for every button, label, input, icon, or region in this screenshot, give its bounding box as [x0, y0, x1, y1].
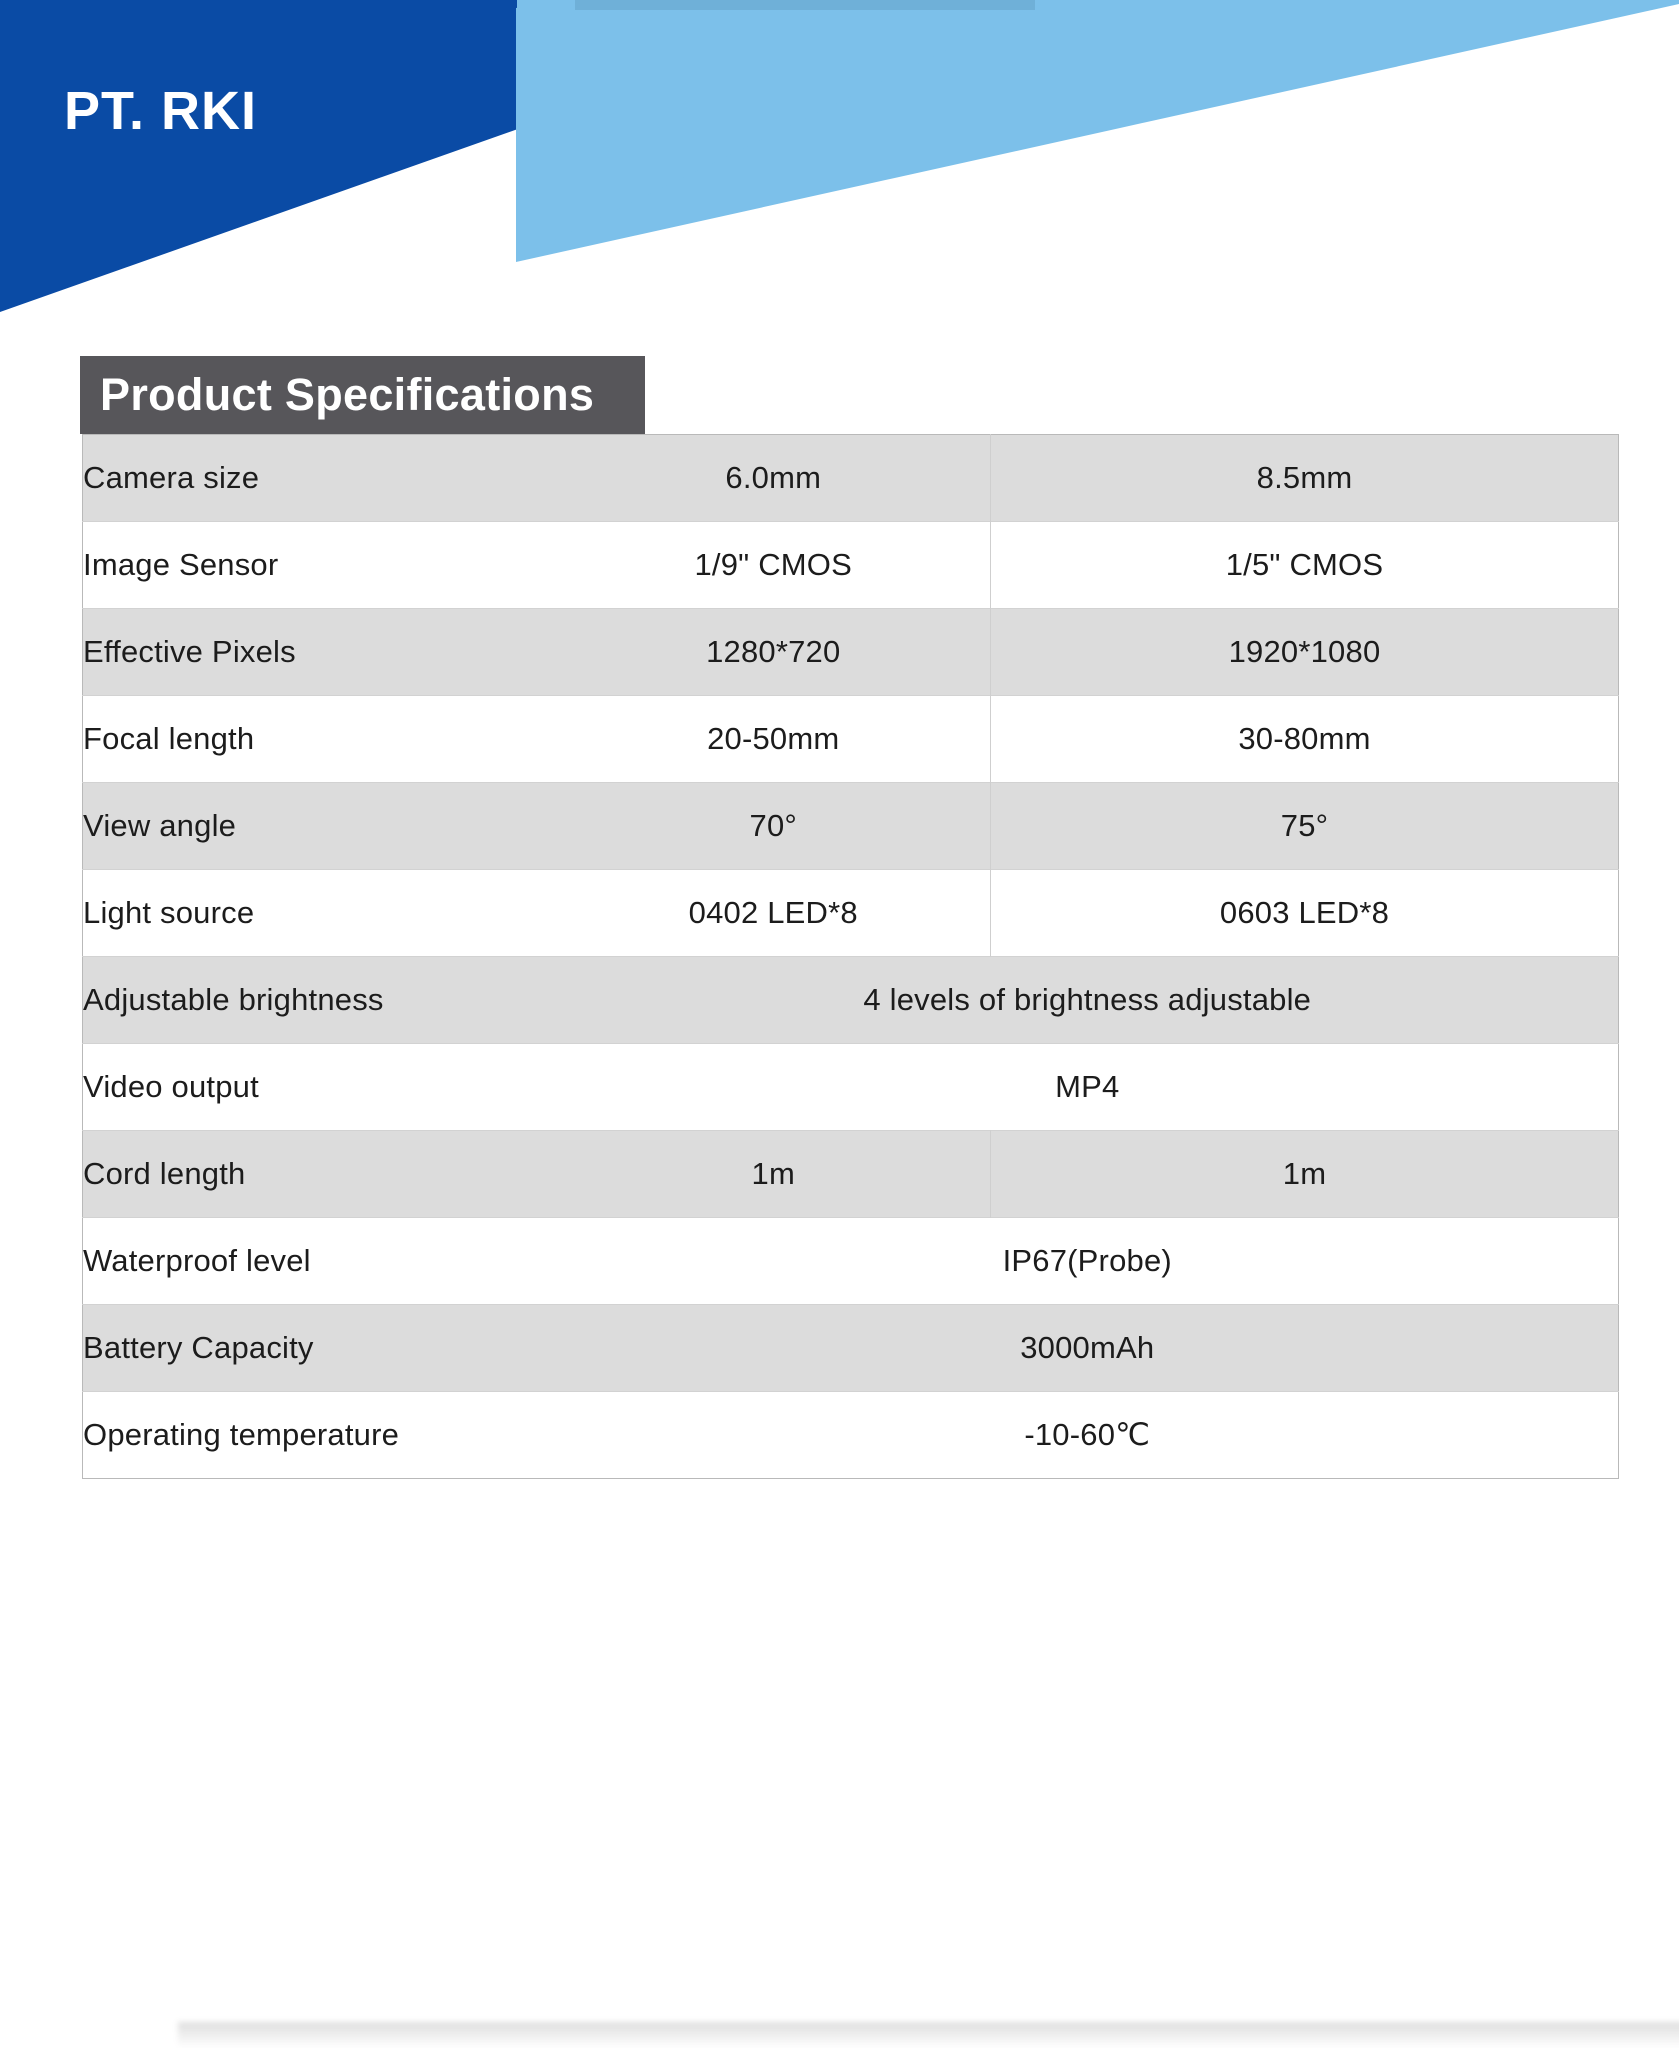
table-row: Cord length1m1m	[83, 1131, 1619, 1218]
spec-label-cell: Camera size	[83, 435, 557, 522]
spec-value-cell-a: 6.0mm	[557, 435, 991, 522]
spec-value-cell-merged: -10-60℃	[557, 1392, 1619, 1479]
spec-label-cell: Waterproof level	[83, 1218, 557, 1305]
table-drop-shadow	[178, 2022, 1679, 2048]
spec-value-cell-b: 75°	[991, 783, 1619, 870]
spec-label-cell: Effective Pixels	[83, 609, 557, 696]
spec-value-cell-a: 1280*720	[557, 609, 991, 696]
spec-value-cell-b: 1920*1080	[991, 609, 1619, 696]
spec-label-cell: View angle	[83, 783, 557, 870]
table-row: Focal length20-50mm30-80mm	[83, 696, 1619, 783]
table-row: Light source0402 LED*80603 LED*8	[83, 870, 1619, 957]
table-row: Image Sensor1/9" CMOS1/5" CMOS	[83, 522, 1619, 609]
spec-label-cell: Image Sensor	[83, 522, 557, 609]
spec-value-cell-b: 1/5" CMOS	[991, 522, 1619, 609]
section-title-chip: Product Specifications	[80, 356, 645, 434]
spec-label-cell: Light source	[83, 870, 557, 957]
header-banner: PT. RKI	[0, 0, 1679, 312]
spec-table-wrapper: Camera size6.0mm8.5mmImage Sensor1/9" CM…	[82, 434, 1618, 1479]
table-row: View angle70°75°	[83, 783, 1619, 870]
table-row: Effective Pixels1280*7201920*1080	[83, 609, 1619, 696]
spec-label-cell: Operating temperature	[83, 1392, 557, 1479]
spec-value-cell-a: 1/9" CMOS	[557, 522, 991, 609]
table-row: Adjustable brightness4 levels of brightn…	[83, 957, 1619, 1044]
spec-value-cell-a: 70°	[557, 783, 991, 870]
spec-value-cell-merged: 4 levels of brightness adjustable	[557, 957, 1619, 1044]
table-row: Video outputMP4	[83, 1044, 1619, 1131]
spec-label-cell: Battery Capacity	[83, 1305, 557, 1392]
table-row: Operating temperature-10-60℃	[83, 1392, 1619, 1479]
table-row: Camera size6.0mm8.5mm	[83, 435, 1619, 522]
company-logo-text: PT. RKI	[64, 84, 257, 138]
spec-label-cell: Focal length	[83, 696, 557, 783]
spec-value-cell-a: 20-50mm	[557, 696, 991, 783]
section-title-label: Product Specifications	[100, 369, 594, 421]
spec-value-cell-merged: IP67(Probe)	[557, 1218, 1619, 1305]
spec-value-cell-b: 1m	[991, 1131, 1619, 1218]
spec-value-cell-b: 0603 LED*8	[991, 870, 1619, 957]
table-row: Battery Capacity3000mAh	[83, 1305, 1619, 1392]
spec-label-cell: Cord length	[83, 1131, 557, 1218]
product-specifications-table: Camera size6.0mm8.5mmImage Sensor1/9" CM…	[82, 434, 1619, 1479]
spec-value-cell-merged: 3000mAh	[557, 1305, 1619, 1392]
banner-top-accent-line	[575, 0, 1035, 10]
spec-label-cell: Adjustable brightness	[83, 957, 557, 1044]
spec-label-cell: Video output	[83, 1044, 557, 1131]
spec-value-cell-a: 0402 LED*8	[557, 870, 991, 957]
spec-value-cell-a: 1m	[557, 1131, 991, 1218]
spec-value-cell-b: 8.5mm	[991, 435, 1619, 522]
spec-value-cell-merged: MP4	[557, 1044, 1619, 1131]
table-row: Waterproof levelIP67(Probe)	[83, 1218, 1619, 1305]
spec-value-cell-b: 30-80mm	[991, 696, 1619, 783]
